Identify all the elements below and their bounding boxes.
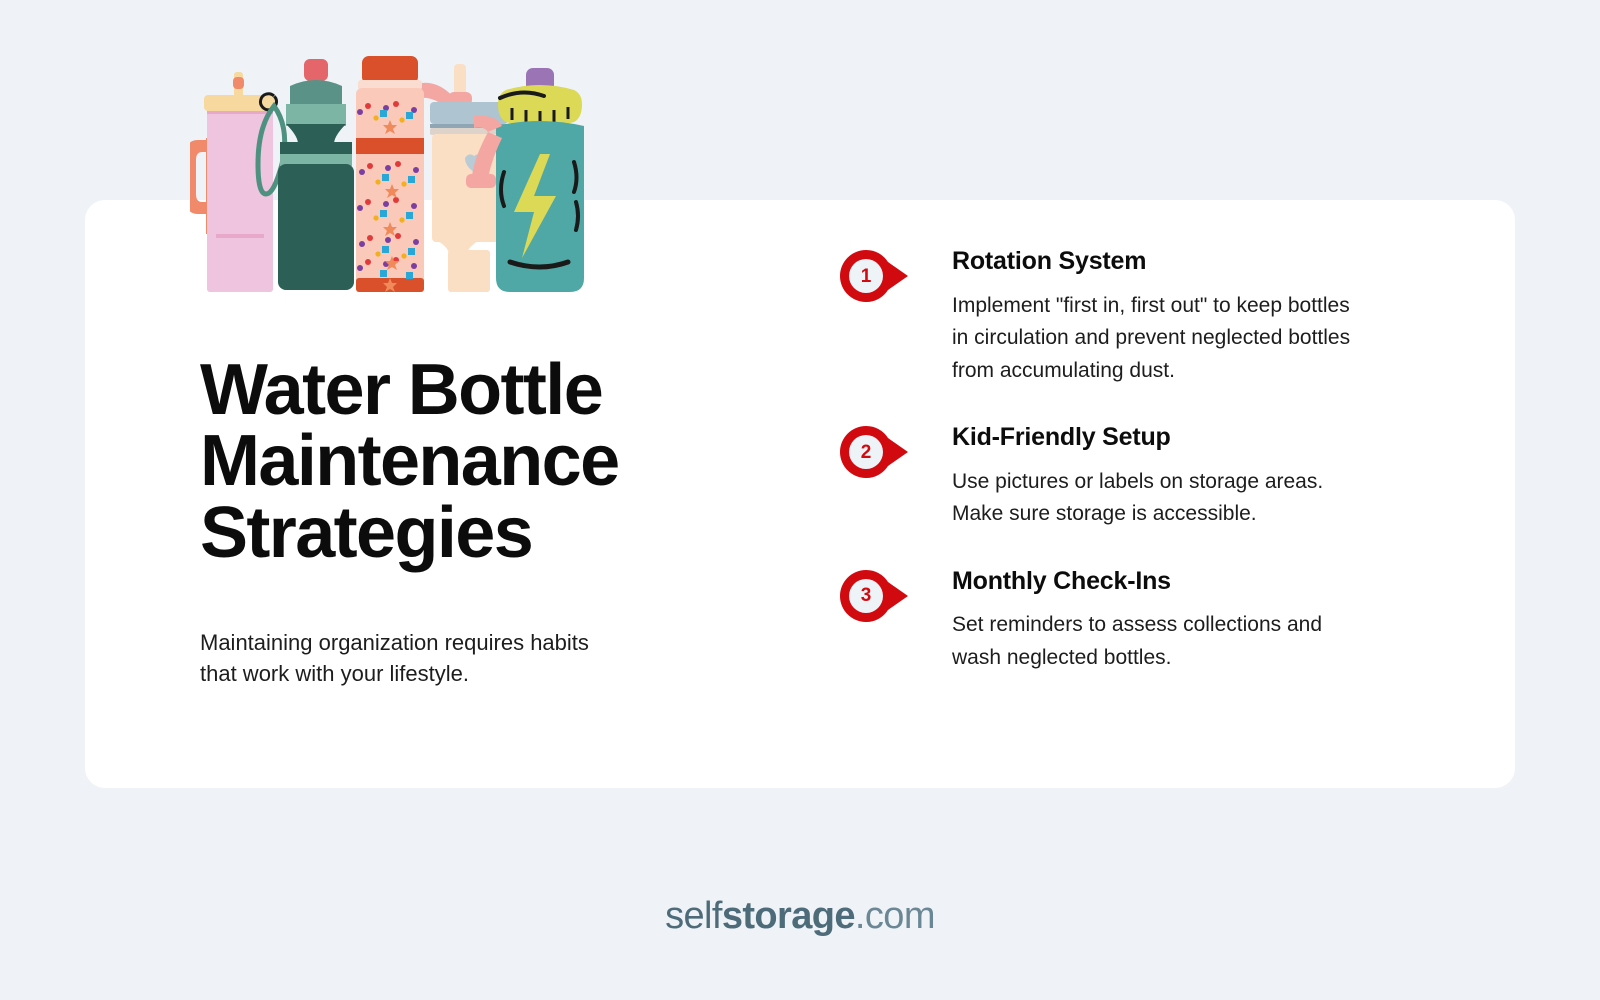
title-line-3: Strategies xyxy=(200,498,740,569)
desc-line: from accumulating dust. xyxy=(952,355,1440,388)
infographic-canvas: Water Bottle Maintenance Strategies Main… xyxy=(0,0,1600,1000)
page-title: Water Bottle Maintenance Strategies xyxy=(200,355,740,569)
step-marker-pin-icon: 1 xyxy=(840,250,910,302)
water-bottles-illustration xyxy=(190,50,590,300)
subtitle-line-2: that work with your lifestyle. xyxy=(200,658,670,689)
list-item-step-1: 1 Rotation System Implement "first in, f… xyxy=(840,248,1440,387)
step-marker-pin-icon: 2 xyxy=(840,426,910,478)
step-description: Set reminders to assess collections and … xyxy=(952,609,1440,674)
desc-line: wash neglected bottles. xyxy=(952,642,1440,675)
step-title: Monthly Check-Ins xyxy=(952,568,1440,596)
hero-text-block: Water Bottle Maintenance Strategies Main… xyxy=(200,355,740,689)
step-description: Implement "first in, first out" to keep … xyxy=(952,290,1440,388)
logo-text-storage: storage xyxy=(722,895,855,937)
step-marker-pin-icon: 3 xyxy=(840,570,910,622)
desc-line: Use pictures or labels on storage areas. xyxy=(952,466,1440,499)
logo-text-self: self xyxy=(665,895,722,937)
desc-line: Set reminders to assess collections and xyxy=(952,609,1440,642)
title-line-2: Maintenance xyxy=(200,426,740,497)
subtitle-line-1: Maintaining organization requires habits xyxy=(200,627,670,658)
desc-line: Make sure storage is accessible. xyxy=(952,498,1440,531)
desc-line: Implement "first in, first out" to keep … xyxy=(952,290,1440,323)
step-number: 2 xyxy=(840,426,892,478)
bottle-dark-green xyxy=(278,59,354,290)
list-item-step-3: 3 Monthly Check-Ins Set reminders to ass… xyxy=(840,568,1440,675)
step-number: 3 xyxy=(840,570,892,622)
step-title: Rotation System xyxy=(952,248,1440,276)
step-title: Kid-Friendly Setup xyxy=(952,424,1440,452)
step-number: 1 xyxy=(840,250,892,302)
title-line-1: Water Bottle xyxy=(200,355,740,426)
selfstorage-logo[interactable]: selfstorage.com xyxy=(665,895,935,938)
steps-list: 1 Rotation System Implement "first in, f… xyxy=(840,248,1440,674)
bottle-pink-tumbler xyxy=(190,72,285,292)
page-subtitle: Maintaining organization requires habits… xyxy=(200,627,670,689)
desc-line: in circulation and prevent neglected bot… xyxy=(952,322,1440,355)
footer: selfstorage.com xyxy=(0,895,1600,938)
step-description: Use pictures or labels on storage areas.… xyxy=(952,466,1440,531)
list-item-step-2: 2 Kid-Friendly Setup Use pictures or lab… xyxy=(840,424,1440,531)
logo-text-domain: .com xyxy=(855,895,935,937)
